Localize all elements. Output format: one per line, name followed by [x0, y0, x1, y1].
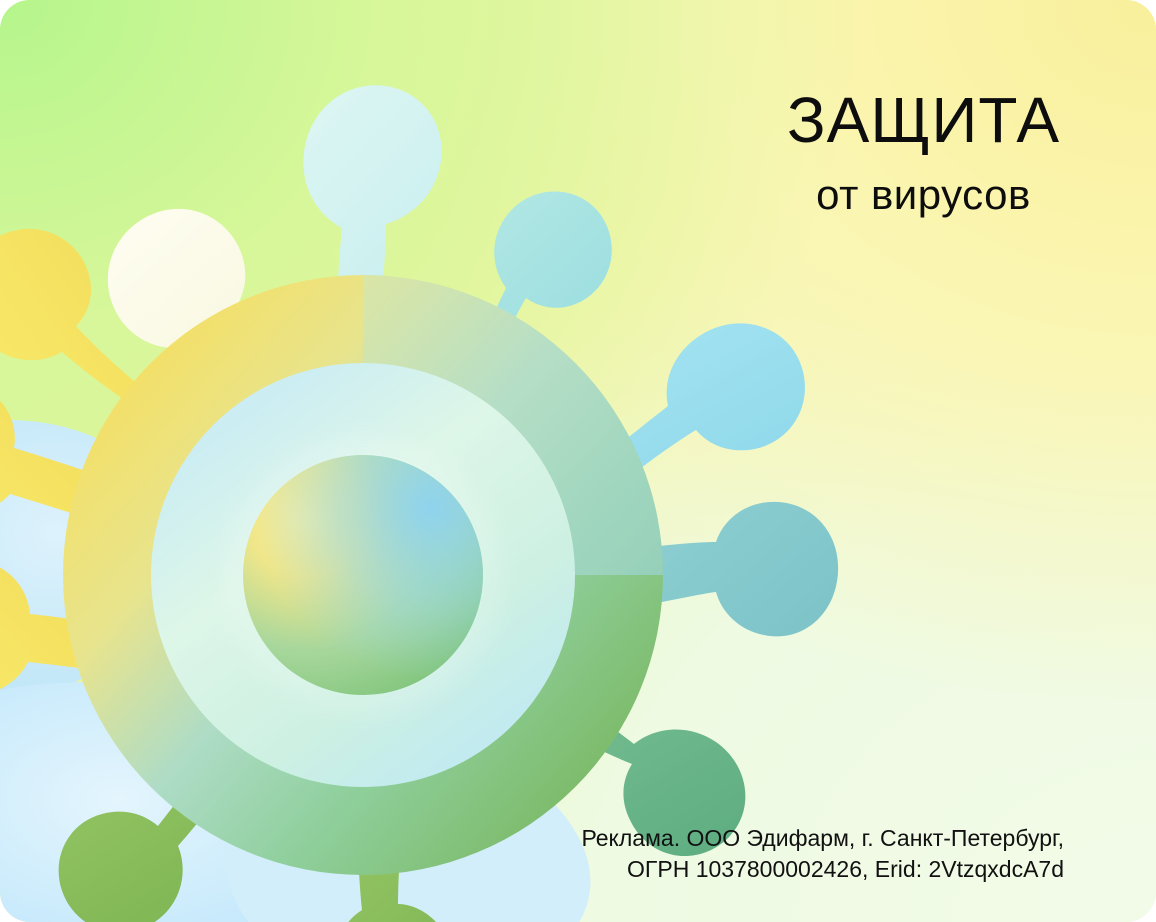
virus-core: [231, 443, 495, 707]
advertisement-banner[interactable]: ЗАЩИТА от вирусов Реклама. ООО Эдифарм, …: [0, 0, 1156, 922]
headline-block: ЗАЩИТА от вирусов: [787, 88, 1060, 216]
headline-title: ЗАЩИТА: [787, 88, 1060, 152]
legal-disclaimer: Реклама. ООО Эдифарм, г. Санкт-Петербург…: [581, 823, 1064, 884]
disclaimer-line-1: Реклама. ООО Эдифарм, г. Санкт-Петербург…: [581, 823, 1064, 853]
spike-right-teal-icon: [640, 502, 838, 637]
virus-core-blue-sheen: [243, 455, 483, 695]
headline-subtitle: от вирусов: [787, 174, 1060, 216]
disclaimer-line-2: ОГРН 1037800002426, Erid: 2VtzqxdcA7d: [581, 854, 1064, 884]
